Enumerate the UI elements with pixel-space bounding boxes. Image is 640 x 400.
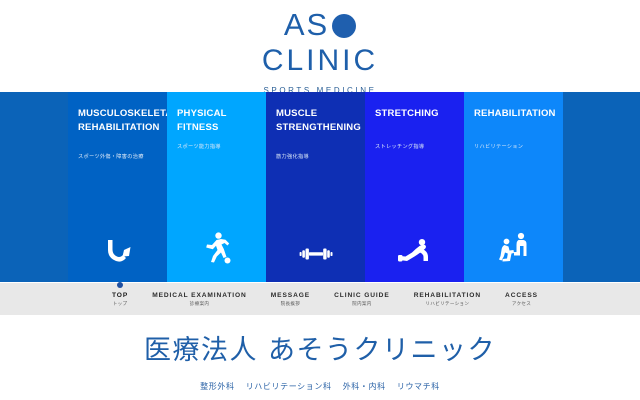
hero-panel-subtitle: 筋力強化指導 [276, 154, 361, 161]
hero-panel-title: REHABILITATION [474, 107, 557, 121]
hero-panel-title: MUSCLE STRENGTHENING [276, 107, 359, 135]
nav-item-sublabel: リハビリテーション [414, 301, 481, 306]
hero-panel-strip: MUSCULOSKELETAL REHABILITATION スポーツ外傷・障害… [0, 92, 640, 282]
stretching-person-icon [365, 230, 464, 264]
logo-text-clinic: CLINIC [0, 46, 640, 76]
hero-panel-title: MUSCULOSKELETAL REHABILITATION [78, 107, 161, 135]
nav-item-sublabel: 院内案内 [334, 301, 390, 306]
nav-item-message[interactable]: MESSAGE 院長挨拶 [269, 292, 312, 307]
nav-item-label: MESSAGE [271, 292, 310, 299]
nav-item-medical-examination[interactable]: MEDICAL EXAMINATION 診療案内 [150, 292, 249, 307]
logo-o-circle-icon [332, 14, 356, 38]
nav-item-label: MEDICAL EXAMINATION [152, 292, 247, 299]
nav-item-rehabilitation[interactable]: REHABILITATION リハビリテーション [412, 292, 483, 307]
site-logo[interactable]: AS CLINIC SPORTS MEDICINE [0, 8, 640, 95]
nav-item-label: ACCESS [505, 292, 538, 299]
nav-item-sublabel: 院長挨拶 [271, 301, 310, 306]
logo-text-as: AS [284, 9, 329, 40]
nav-items-container: TOP トップ MEDICAL EXAMINATION 診療案内 MESSAGE… [110, 283, 540, 315]
hero-panel-subtitle: スポーツ能力指導 [177, 144, 262, 151]
nav-item-access[interactable]: ACCESS アクセス [503, 292, 540, 307]
nav-item-sublabel: アクセス [505, 301, 538, 306]
dumbbell-icon [266, 230, 365, 264]
therapist-patient-icon [464, 230, 563, 264]
nav-active-indicator-dot [117, 282, 123, 288]
nav-item-label: REHABILITATION [414, 292, 481, 299]
page-root: AS CLINIC SPORTS MEDICINE MUSCULOSKELETA… [0, 0, 640, 400]
site-footer: 医療法人 あそうクリニック 整形外科 リハビリテーション科 外科・内科 リウマチ… [0, 315, 640, 400]
soccer-player-icon [167, 230, 266, 264]
hero-panel-title: PHYSICAL FITNESS [177, 107, 260, 135]
clinic-name-heading: 医療法人 あそうクリニック [0, 337, 640, 364]
hero-edge-right [563, 92, 640, 282]
primary-navigation: TOP トップ MEDICAL EXAMINATION 診療案内 MESSAGE… [0, 283, 640, 315]
hero-edge-left [0, 92, 68, 282]
hero-panel-subtitle: スポーツ外傷・障害の治療 [78, 154, 163, 161]
department-item: リハビリテーション科 [246, 382, 332, 391]
hero-panel-rehabilitation[interactable]: REHABILITATION リハビリテーション [464, 92, 563, 282]
department-item: 外科・内科 [343, 382, 386, 391]
site-header: AS CLINIC SPORTS MEDICINE [0, 0, 640, 92]
department-item: 整形外科 [200, 382, 234, 391]
hero-panel-subtitle: リハビリテーション [474, 144, 559, 151]
department-list: 整形外科 リハビリテーション科 外科・内科 リウマチ科 [0, 381, 640, 392]
hero-panel-muscle-strengthening[interactable]: MUSCLE STRENGTHENING 筋力強化指導 [266, 92, 365, 282]
hero-panel-musculoskeletal-rehabilitation[interactable]: MUSCULOSKELETAL REHABILITATION スポーツ外傷・障害… [68, 92, 167, 282]
hero-panel-stretching[interactable]: STRETCHING ストレッチング指導 [365, 92, 464, 282]
nav-item-sublabel: トップ [112, 301, 128, 306]
nav-item-label: TOP [112, 292, 128, 299]
hero-panel-subtitle: ストレッチング指導 [375, 144, 460, 151]
hero-panel-title: STRETCHING [375, 107, 458, 121]
nav-item-top[interactable]: TOP トップ [110, 292, 130, 307]
nav-item-label: CLINIC GUIDE [334, 292, 390, 299]
nav-item-clinic-guide[interactable]: CLINIC GUIDE 院内案内 [332, 292, 392, 307]
logo-line-aso: AS [0, 8, 640, 40]
knee-brace-icon [68, 230, 167, 264]
nav-item-sublabel: 診療案内 [152, 301, 247, 306]
hero-panel-physical-fitness[interactable]: PHYSICAL FITNESS スポーツ能力指導 [167, 92, 266, 282]
department-item: リウマチ科 [397, 382, 440, 391]
